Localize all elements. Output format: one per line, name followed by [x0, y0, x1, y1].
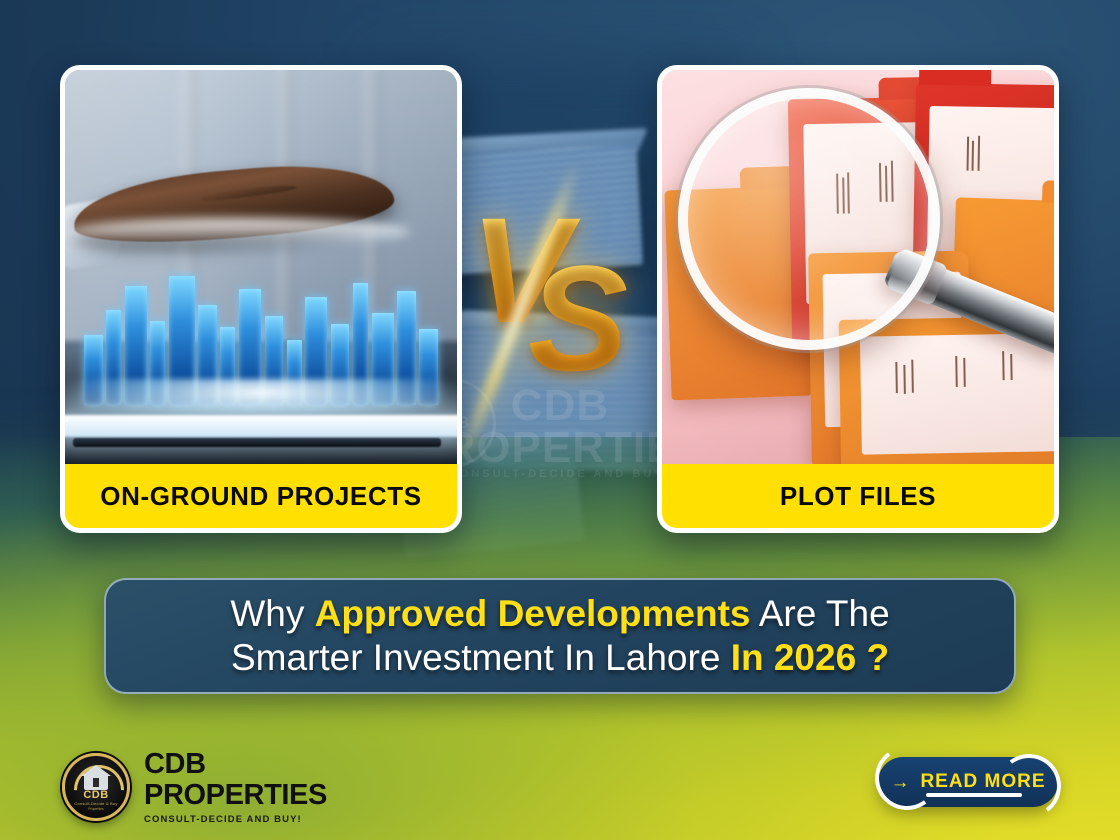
- headline-box: Why Approved Developments Are The Smarte…: [104, 578, 1016, 694]
- read-more-button[interactable]: → READ MORE: [878, 757, 1058, 807]
- vs-badge: V S: [470, 195, 650, 410]
- headline-highlight-2: In 2026 ?: [731, 637, 889, 678]
- brand-logo[interactable]: CDB Consult-Decide & Buy Properties CDB …: [62, 750, 327, 825]
- headline-text-2a: Smarter Investment In Lahore: [231, 637, 731, 678]
- plot-files-photo: [662, 70, 1054, 469]
- comparison-card-left[interactable]: ON-GROUND PROJECTS: [60, 65, 462, 533]
- logo-badge-sub: Properties: [65, 807, 127, 811]
- logo-badge-initials: CDB: [65, 789, 127, 801]
- logo-name-line2: PROPERTIES: [144, 781, 327, 810]
- comparison-card-right[interactable]: PLOT FILES: [657, 65, 1059, 533]
- headline-text-1b: Are The: [750, 593, 889, 634]
- card-label-left: ON-GROUND PROJECTS: [65, 464, 457, 528]
- card-label-right-text: PLOT FILES: [780, 481, 936, 512]
- logo-badge-icon: CDB Consult-Decide & Buy Properties: [62, 753, 130, 821]
- logo-name-line1: CDB: [144, 750, 327, 779]
- promotional-banner: CDB PROPERTIES CONSULT-DECIDE AND BUY! C…: [0, 0, 1120, 840]
- headline-highlight-1: Approved Developments: [315, 593, 751, 634]
- magnifying-glass-icon: [678, 88, 940, 350]
- on-ground-projects-photo: [65, 70, 457, 469]
- vs-letter-s: S: [528, 243, 708, 393]
- headline-line-2: Smarter Investment In Lahore In 2026 ?: [231, 636, 889, 680]
- holographic-city-icon: [77, 270, 446, 406]
- headline-line-1: Why Approved Developments Are The: [230, 592, 889, 636]
- logo-tagline: CONSULT-DECIDE AND BUY!: [144, 815, 327, 825]
- logo-wordmark: CDB PROPERTIES CONSULT-DECIDE AND BUY!: [144, 750, 327, 825]
- card-label-left-text: ON-GROUND PROJECTS: [100, 481, 421, 512]
- logo-badge-tagline: Consult-Decide & Buy: [65, 801, 127, 806]
- card-label-right: PLOT FILES: [662, 464, 1054, 528]
- headline-text-1a: Why: [230, 593, 314, 634]
